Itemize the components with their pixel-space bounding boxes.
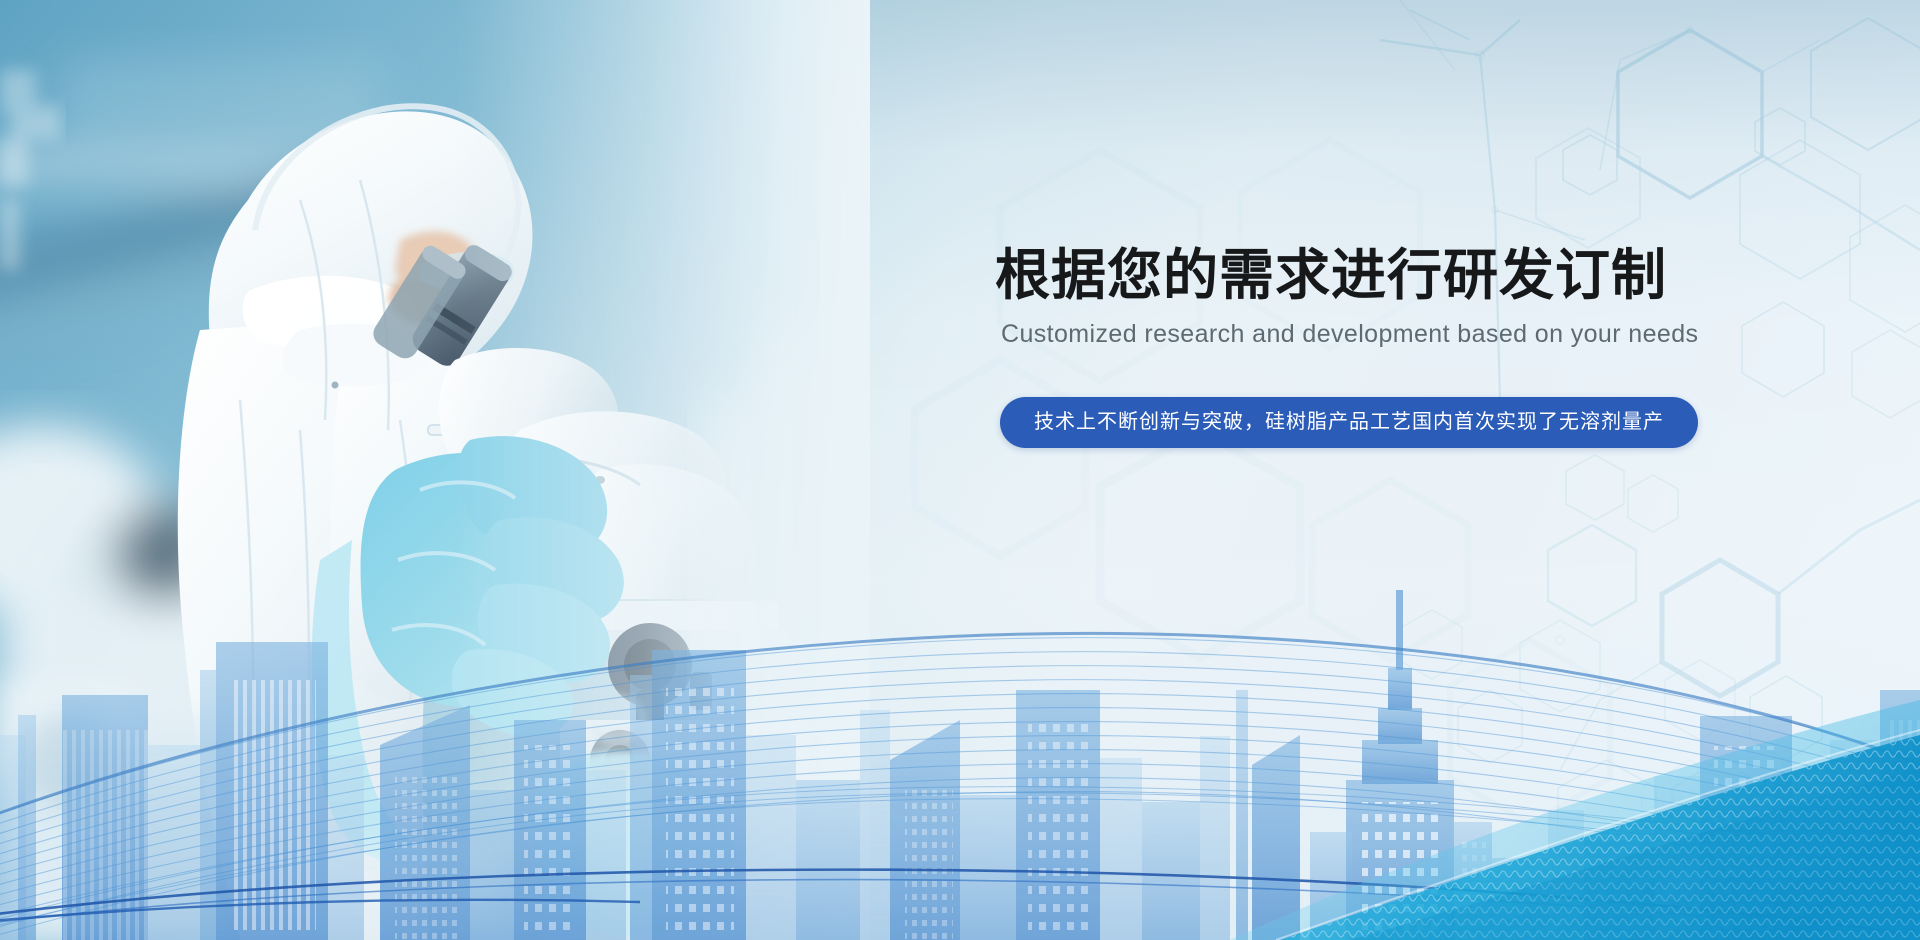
banner-text-block: 根据您的需求进行研发订制 Customized research and dev… [995,245,1755,448]
hero-banner: 根据您的需求进行研发订制 Customized research and dev… [0,0,1920,940]
tagline-wrapper: 技术上不断创新与突破，硅树脂产品工艺国内首次实现了无溶剂量产 [1000,397,1755,448]
tagline-badge: 技术上不断创新与突破，硅树脂产品工艺国内首次实现了无溶剂量产 [1000,397,1698,448]
page-subtitle: Customized research and development base… [1001,320,1755,349]
wave-lines-icon [0,520,1920,940]
page-title: 根据您的需求进行研发订制 [995,245,1755,306]
